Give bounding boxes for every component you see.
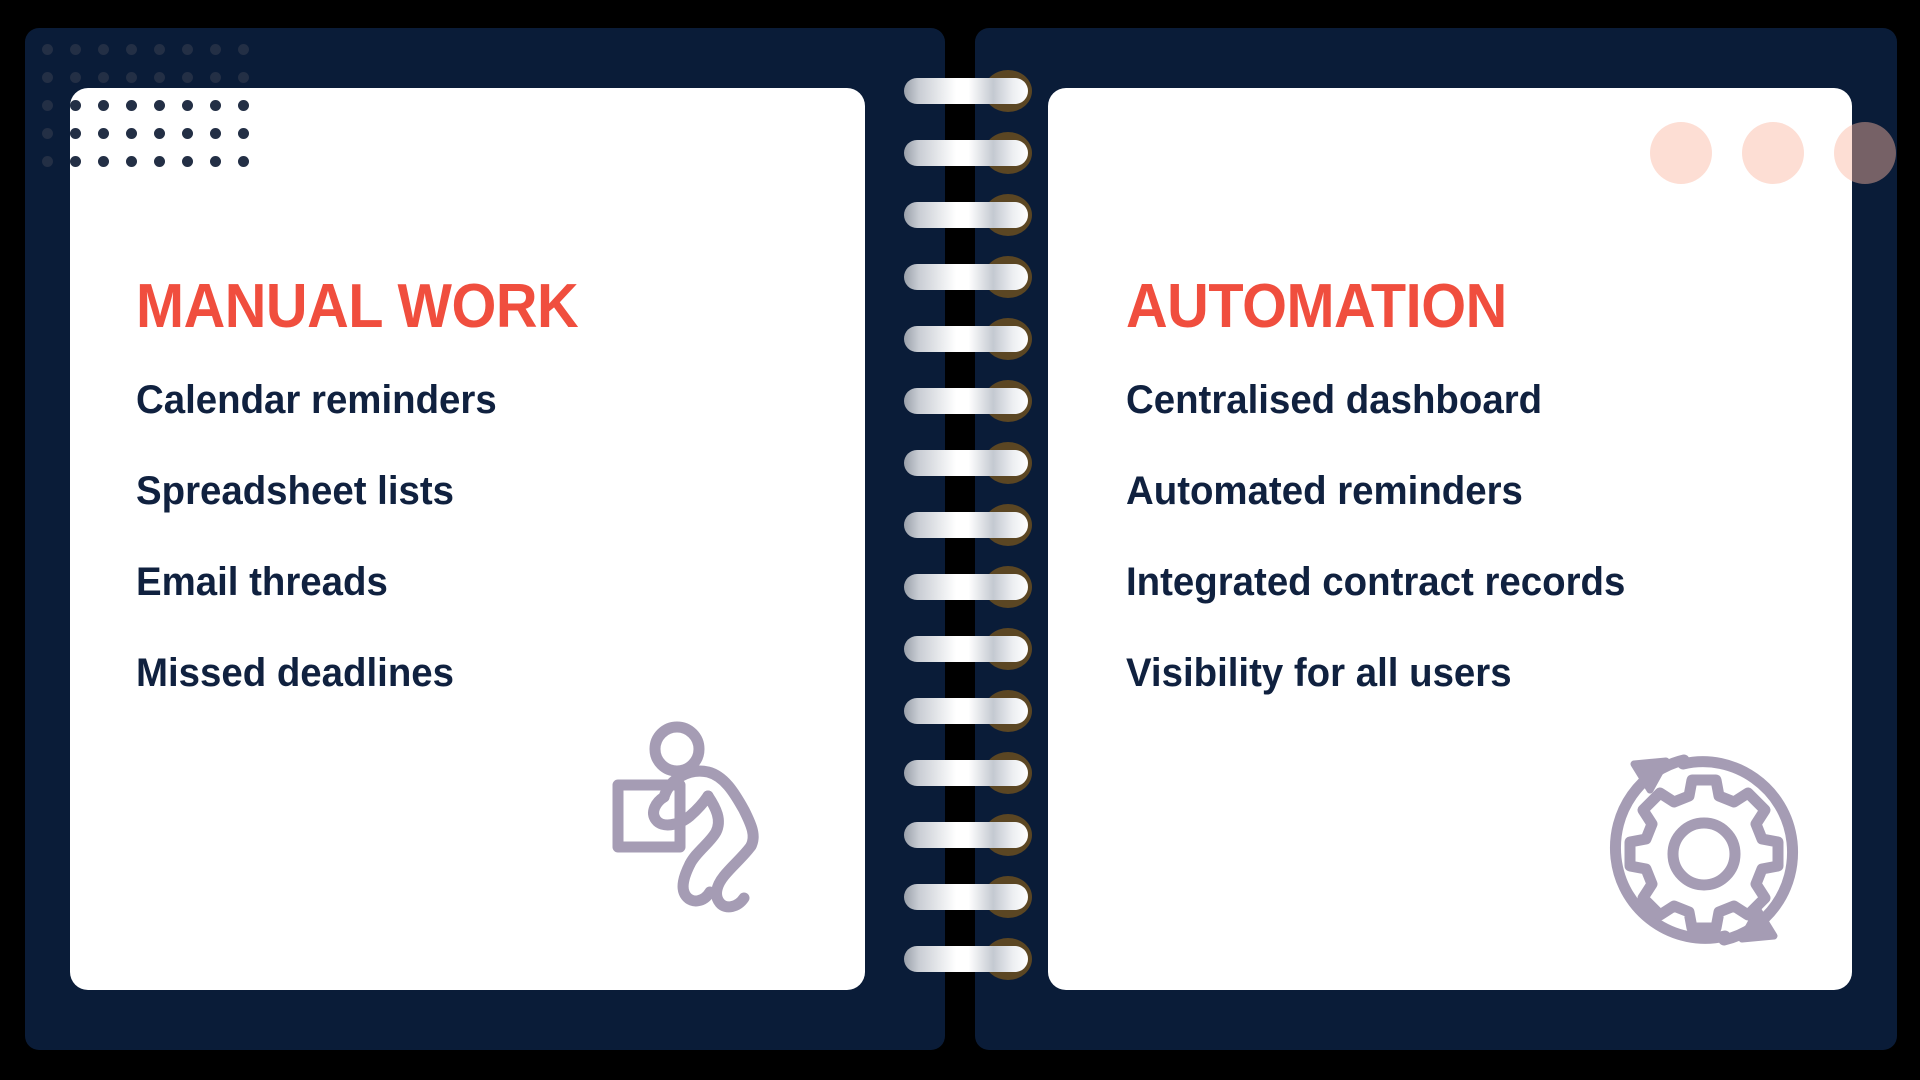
person-lifting-box-icon xyxy=(604,716,794,916)
spiral-ring-wire xyxy=(904,884,1028,910)
spiral-ring xyxy=(900,68,1040,114)
right-page-list: Centralised dashboard Automated reminder… xyxy=(1126,380,1646,693)
list-item: Visibility for all users xyxy=(1126,653,1625,693)
left-page-list: Calendar reminders Spreadsheet lists Ema… xyxy=(136,380,512,693)
spiral-ring xyxy=(900,502,1040,548)
spiral-ring xyxy=(900,688,1040,734)
spiral-ring-wire xyxy=(904,140,1028,166)
spiral-ring-wire xyxy=(904,760,1028,786)
list-item: Missed deadlines xyxy=(136,653,497,693)
spiral-ring-wire xyxy=(904,326,1028,352)
spiral-ring xyxy=(900,812,1040,858)
spiral-ring-wire xyxy=(904,450,1028,476)
spiral-ring xyxy=(900,254,1040,300)
spiral-ring-wire xyxy=(904,698,1028,724)
spiral-ring xyxy=(900,316,1040,362)
spiral-ring-wire xyxy=(904,636,1028,662)
spiral-ring xyxy=(900,564,1040,610)
spiral-ring-wire xyxy=(904,78,1028,104)
notebook-comparison-graphic: MANUAL WORK Calendar reminders Spreadshe… xyxy=(0,0,1920,1080)
spiral-ring-wire xyxy=(904,202,1028,228)
list-item: Centralised dashboard xyxy=(1126,380,1625,420)
spiral-ring-wire xyxy=(904,264,1028,290)
list-item: Spreadsheet lists xyxy=(136,471,497,511)
spiral-ring xyxy=(900,626,1040,672)
spiral-ring-wire xyxy=(904,388,1028,414)
list-item: Calendar reminders xyxy=(136,380,497,420)
list-item: Email threads xyxy=(136,562,497,602)
gear-refresh-icon xyxy=(1604,750,1804,950)
left-page-title: MANUAL WORK xyxy=(136,276,578,338)
peach-circle-decoration xyxy=(1742,122,1804,184)
spiral-ring xyxy=(900,440,1040,486)
list-item: Integrated contract records xyxy=(1126,562,1625,602)
spiral-ring-wire xyxy=(904,512,1028,538)
spiral-ring xyxy=(900,130,1040,176)
spiral-ring-wire xyxy=(904,822,1028,848)
spiral-binding xyxy=(900,0,1040,1080)
right-page-title: AUTOMATION xyxy=(1126,276,1507,338)
spiral-ring xyxy=(900,874,1040,920)
peach-circle-decoration xyxy=(1650,122,1712,184)
spiral-ring xyxy=(900,192,1040,238)
list-item: Automated reminders xyxy=(1126,471,1625,511)
spiral-ring-wire xyxy=(904,946,1028,972)
spiral-ring-wire xyxy=(904,574,1028,600)
spiral-ring xyxy=(900,378,1040,424)
spiral-ring xyxy=(900,936,1040,982)
spiral-ring xyxy=(900,750,1040,796)
peach-circle-decoration xyxy=(1834,122,1896,184)
